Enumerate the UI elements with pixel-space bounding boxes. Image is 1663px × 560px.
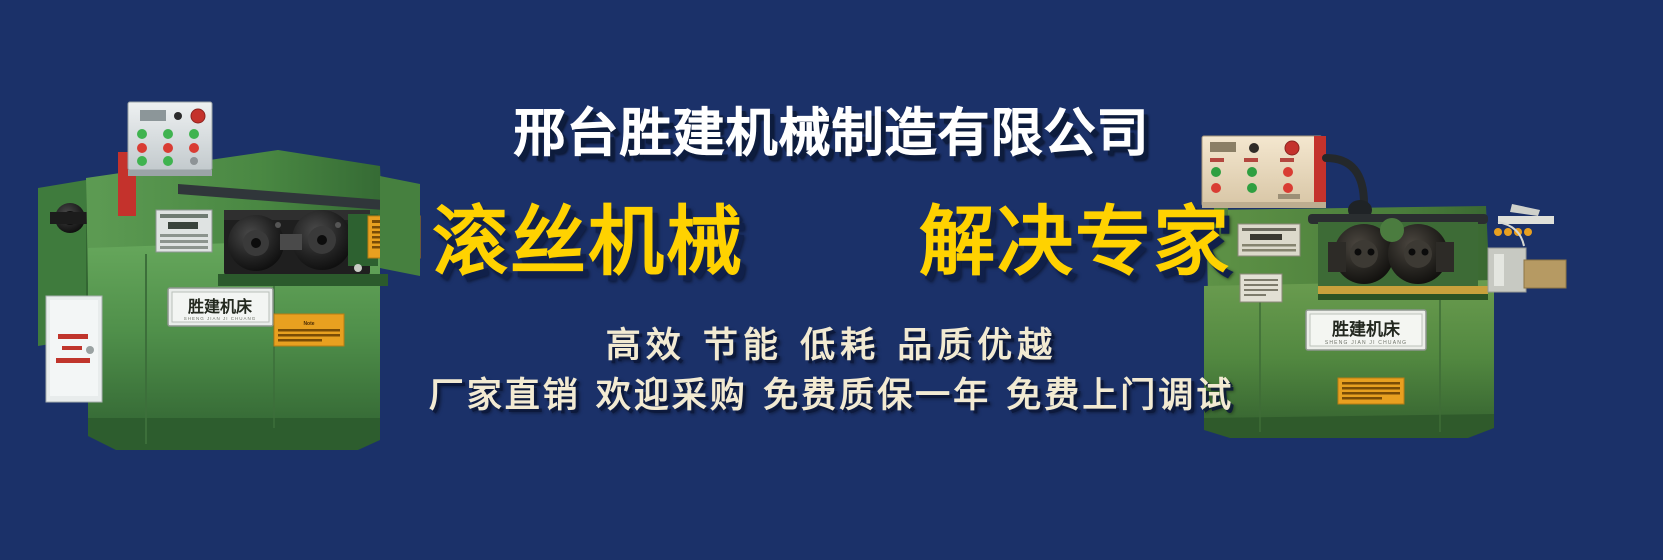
banner-text-block: 邢台胜建机械制造有限公司 滚丝机械 解决专家 高效 节能 低耗 品质优越 厂家直… (0, 0, 1663, 560)
machine-left-brand-plate-pinyin: SHENG JIAN JI CHUANG (184, 316, 257, 321)
company-name: 邢台胜建机械制造有限公司 (0, 104, 1663, 164)
machine-left-brand-plate: 胜建机床 SHENG JIAN JI CHUANG (168, 288, 273, 326)
sub-line-services: 厂家直销 欢迎采购 免费质保一年 免费上门调试 (0, 374, 1663, 418)
headline-right: 解决专家 (919, 197, 1231, 286)
headline: 滚丝机械 解决专家 (0, 196, 1663, 288)
promotional-banner: 胜建机床 SHENG JIAN JI CHUANG Note (0, 0, 1663, 560)
sub-line-features: 高效 节能 低耗 品质优越 (0, 324, 1663, 368)
machine-left-brand-plate-cn: 胜建机床 (188, 297, 253, 316)
headline-left: 滚丝机械 (432, 197, 744, 286)
